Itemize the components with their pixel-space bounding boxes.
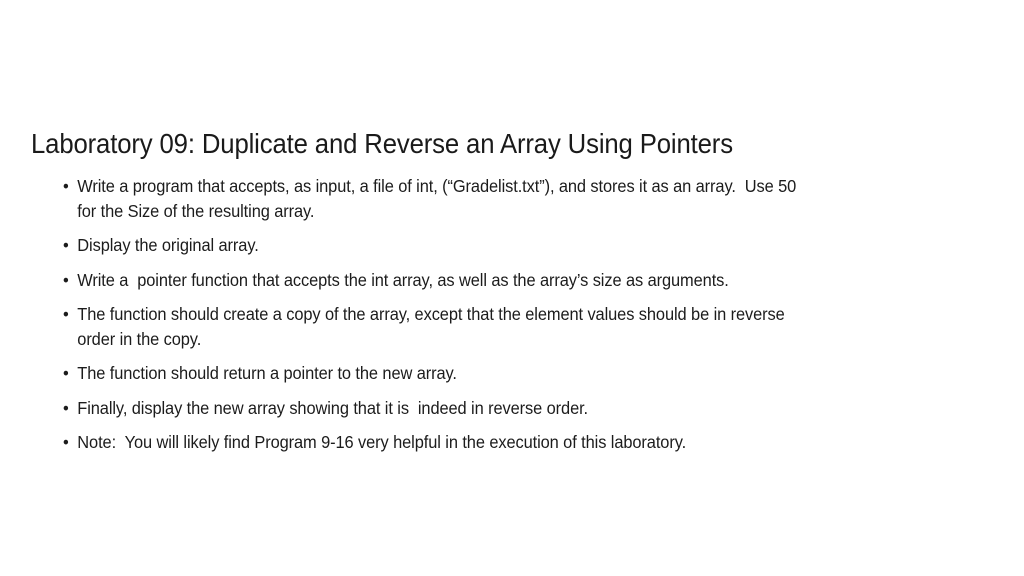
list-item: • Note: You will likely find Program 9-1… — [62, 430, 816, 455]
list-item-text: The function should create a copy of the… — [77, 302, 816, 351]
bullet-point-icon: • — [63, 430, 73, 455]
list-item: • Write a pointer function that accepts … — [62, 268, 816, 293]
bullet-point-icon: • — [63, 174, 73, 199]
page-title: Laboratory 09: Duplicate and Reverse an … — [31, 126, 901, 162]
list-item-text: Note: You will likely find Program 9-16 … — [77, 430, 816, 455]
list-item-text: The function should return a pointer to … — [77, 361, 816, 386]
list-item: • The function should return a pointer t… — [62, 361, 816, 386]
bullet-point-icon: • — [63, 302, 73, 327]
list-item: • Write a program that accepts, as input… — [62, 174, 816, 223]
list-item: • Finally, display the new array showing… — [62, 396, 816, 421]
bullet-point-icon: • — [63, 361, 73, 386]
list-item: • Display the original array. — [62, 233, 816, 258]
list-item-text: Finally, display the new array showing t… — [77, 396, 816, 421]
bullet-list: • Write a program that accepts, as input… — [62, 174, 852, 455]
bullet-point-icon: • — [63, 233, 73, 258]
list-item-text: Write a pointer function that accepts th… — [77, 268, 816, 293]
list-item: • The function should create a copy of t… — [62, 302, 816, 351]
list-item-text: Display the original array. — [77, 233, 816, 258]
bullet-point-icon: • — [63, 396, 73, 421]
list-item-text: Write a program that accepts, as input, … — [77, 174, 816, 223]
bullet-point-icon: • — [63, 268, 73, 293]
presentation-slide: Laboratory 09: Duplicate and Reverse an … — [0, 0, 1024, 576]
